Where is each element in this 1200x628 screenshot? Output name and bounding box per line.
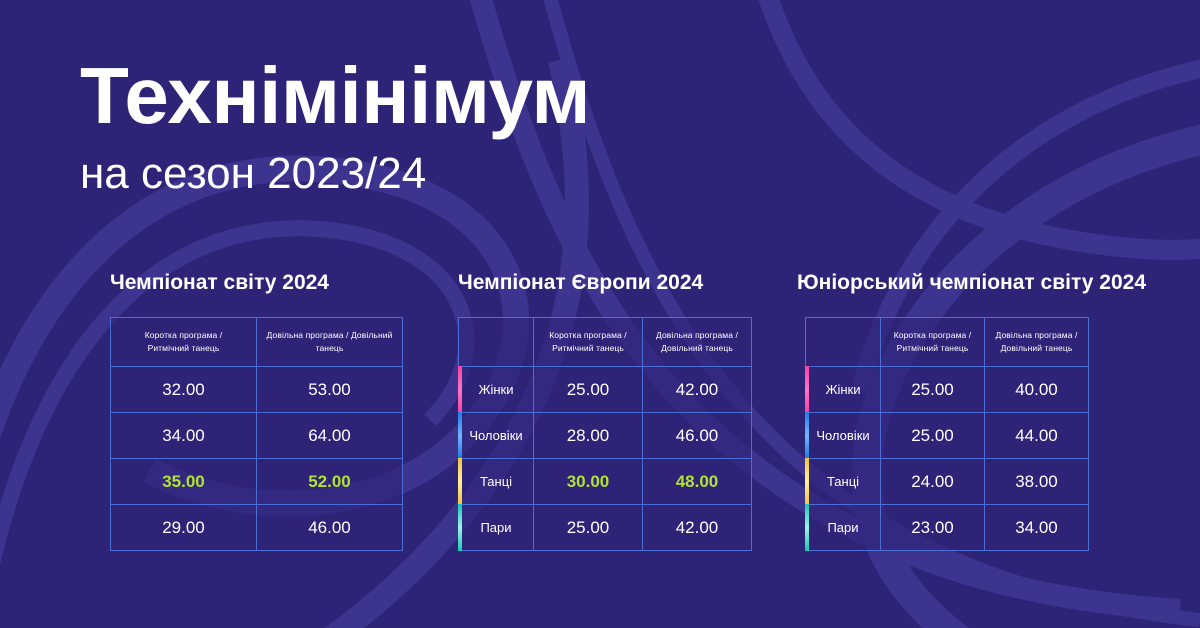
column-header-short-line2: Ритмічний танець <box>148 343 220 353</box>
cell-free-program: 46.00 <box>257 505 403 551</box>
column-header-free-line1: Довільна програма / <box>996 330 1078 340</box>
column-header-short-line1: Коротка програма / <box>549 330 627 340</box>
page-subtitle: на сезон 2023/24 <box>80 152 590 196</box>
table-row: 32.00 53.00 <box>111 367 403 413</box>
table-caption-world-championship: Чемпіонат світу 2024 <box>110 272 400 293</box>
cell-short-program: 23.00 <box>881 505 985 551</box>
column-header-short-program: Коротка програма / Ритмічний танець <box>534 318 643 367</box>
table-row-highlighted: Танці 30.00 48.00 <box>459 459 752 505</box>
cell-short-program: 24.00 <box>881 459 985 505</box>
row-label-pairs: Пари <box>459 505 534 551</box>
row-label-text: Чоловіки <box>816 428 869 443</box>
table-row: Жінки 25.00 42.00 <box>459 367 752 413</box>
column-header-short-line1: Коротка програма / <box>145 330 223 340</box>
table-world-championship: Коротка програма / Ритмічний танець Дові… <box>110 317 403 551</box>
table-caption-junior-world-championship: Юніорський чемпіонат світу 2024 <box>797 272 1085 293</box>
row-label-dance: Танці <box>806 459 881 505</box>
column-header-free-line2: Довільний танець <box>1001 343 1073 353</box>
accent-bar-dance <box>805 458 809 505</box>
table-junior-world-championship: Коротка програма / Ритмічний танець Дові… <box>805 317 1089 551</box>
cell-short-program: 28.00 <box>534 413 643 459</box>
row-label-text: Жінки <box>825 382 860 397</box>
cell-free-program-highlighted: 48.00 <box>643 459 752 505</box>
column-header-short-program: Коротка програма / Ритмічний танець <box>111 318 257 367</box>
table-row: Пари 23.00 34.00 <box>806 505 1089 551</box>
column-header-short-line2: Ритмічний танець <box>552 343 624 353</box>
cell-short-program: 25.00 <box>881 413 985 459</box>
swirl-arc-top-right <box>760 0 1200 250</box>
accent-bar-women <box>805 366 809 413</box>
accent-bar-dance <box>458 458 462 505</box>
table-european-championship: Коротка програма / Ритмічний танець Дові… <box>458 317 752 551</box>
accent-bar-pairs <box>458 504 462 551</box>
cell-free-program: 40.00 <box>985 367 1089 413</box>
column-header-free-line2: танець <box>316 343 344 353</box>
cell-free-program: 38.00 <box>985 459 1089 505</box>
cell-short-program: 34.00 <box>111 413 257 459</box>
page-title: Технімінімум <box>80 56 590 136</box>
column-header-free-program: Довільна програма / Довільний танець <box>985 318 1089 367</box>
table-row: Жінки 25.00 40.00 <box>806 367 1089 413</box>
table-header-row: Коротка програма / Ритмічний танець Дові… <box>111 318 403 367</box>
table-block-world-championship: Чемпіонат світу 2024 Коротка програма / … <box>110 272 400 551</box>
cell-free-program: 64.00 <box>257 413 403 459</box>
cell-short-program: 25.00 <box>534 505 643 551</box>
column-header-short-program: Коротка програма / Ритмічний танець <box>881 318 985 367</box>
cell-free-program: 46.00 <box>643 413 752 459</box>
table-header-row: Коротка програма / Ритмічний танець Дові… <box>806 318 1089 367</box>
cell-short-program: 25.00 <box>534 367 643 413</box>
row-label-pairs: Пари <box>806 505 881 551</box>
cell-short-program-highlighted: 30.00 <box>534 459 643 505</box>
cell-free-program: 42.00 <box>643 367 752 413</box>
table-block-european-championship: Чемпіонат Європи 2024 Коротка програма /… <box>458 272 748 551</box>
row-label-text: Танці <box>827 474 859 489</box>
accent-bar-men <box>805 412 809 459</box>
table-caption-european-championship: Чемпіонат Європи 2024 <box>458 272 748 293</box>
row-label-women: Жінки <box>459 367 534 413</box>
column-header-free-line2: Довільний танець <box>661 343 733 353</box>
cell-free-program: 34.00 <box>985 505 1089 551</box>
table-row: Танці 24.00 38.00 <box>806 459 1089 505</box>
row-label-men: Чоловіки <box>806 413 881 459</box>
cell-free-program: 42.00 <box>643 505 752 551</box>
table-row: Пари 25.00 42.00 <box>459 505 752 551</box>
cell-free-program-highlighted: 52.00 <box>257 459 403 505</box>
table-row: 34.00 64.00 <box>111 413 403 459</box>
table-block-junior-world-championship: Юніорський чемпіонат світу 2024 Коротка … <box>805 272 1085 551</box>
accent-bar-pairs <box>805 504 809 551</box>
column-header-category <box>459 318 534 367</box>
accent-bar-men <box>458 412 462 459</box>
row-label-text: Танці <box>480 474 512 489</box>
table-row: Чоловіки 25.00 44.00 <box>806 413 1089 459</box>
column-header-short-line1: Коротка програма / <box>894 330 972 340</box>
row-label-text: Жінки <box>478 382 513 397</box>
row-label-text: Пари <box>827 520 858 535</box>
row-label-text: Пари <box>480 520 511 535</box>
column-header-free-program: Довільна програма / Довільний танець <box>257 318 403 367</box>
column-header-category <box>806 318 881 367</box>
accent-bar-women <box>458 366 462 413</box>
table-row: 29.00 46.00 <box>111 505 403 551</box>
cell-short-program-highlighted: 35.00 <box>111 459 257 505</box>
cell-short-program: 25.00 <box>881 367 985 413</box>
row-label-text: Чоловіки <box>469 428 522 443</box>
row-label-men: Чоловіки <box>459 413 534 459</box>
row-label-women: Жінки <box>806 367 881 413</box>
cell-short-program: 29.00 <box>111 505 257 551</box>
table-header-row: Коротка програма / Ритмічний танець Дові… <box>459 318 752 367</box>
cell-short-program: 32.00 <box>111 367 257 413</box>
column-header-free-line1: Довільна програма / Довільний <box>267 330 393 340</box>
cell-free-program: 44.00 <box>985 413 1089 459</box>
cell-free-program: 53.00 <box>257 367 403 413</box>
column-header-short-line2: Ритмічний танець <box>897 343 969 353</box>
column-header-free-line1: Довільна програма / <box>656 330 738 340</box>
table-row-highlighted: 35.00 52.00 <box>111 459 403 505</box>
column-header-free-program: Довільна програма / Довільний танець <box>643 318 752 367</box>
row-label-dance: Танці <box>459 459 534 505</box>
table-row: Чоловіки 28.00 46.00 <box>459 413 752 459</box>
title-block: Технімінімум на сезон 2023/24 <box>80 56 590 196</box>
